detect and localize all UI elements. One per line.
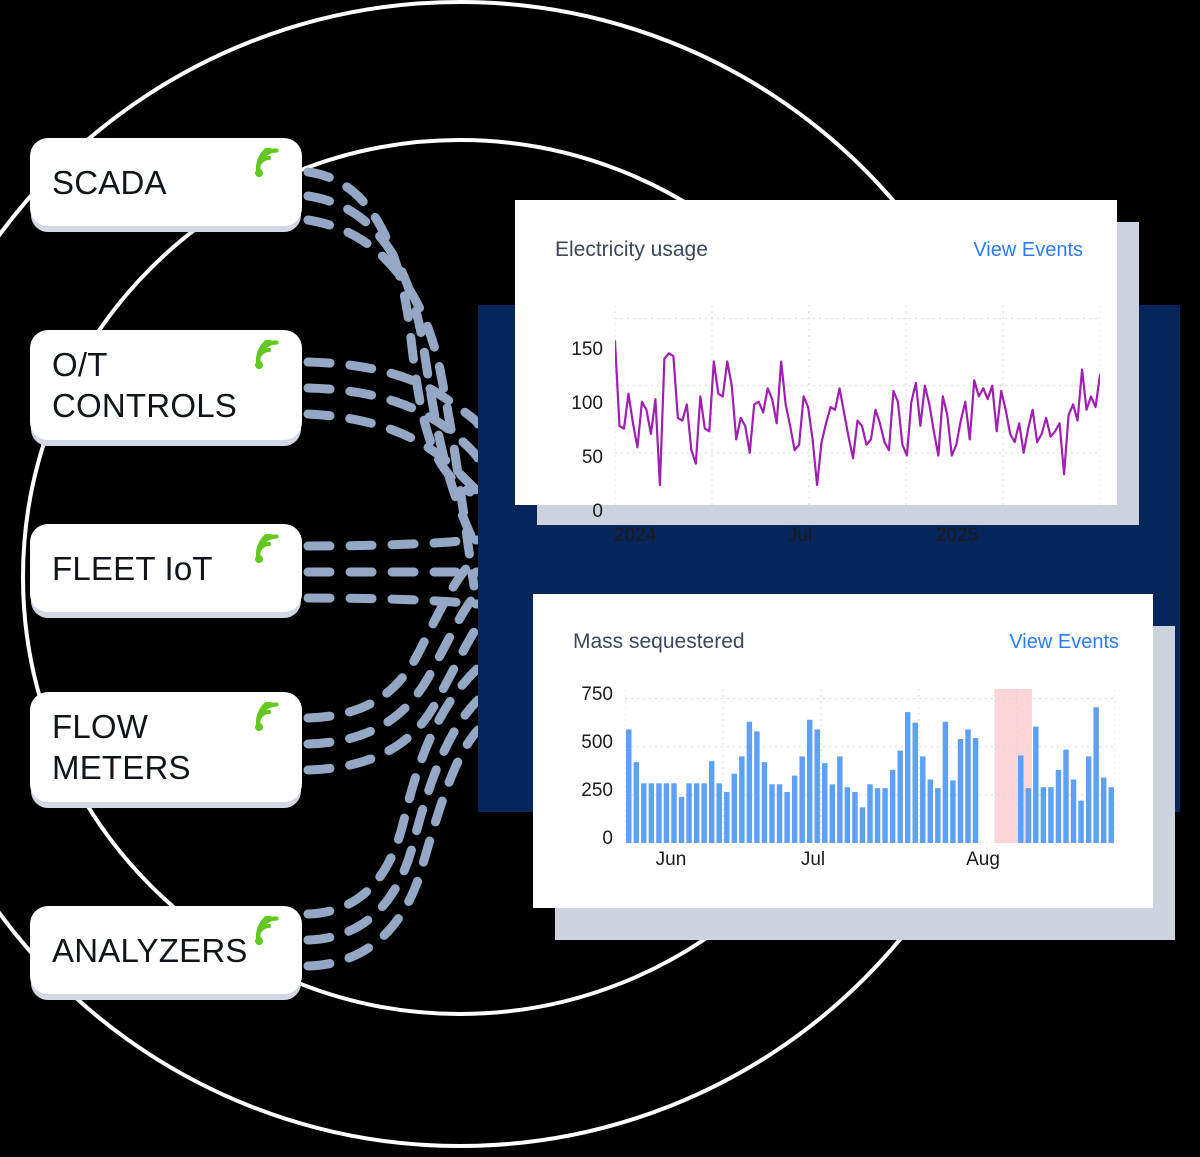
- source-pill-ot-controls[interactable]: O/T CONTROLS: [30, 330, 302, 440]
- card-header: Electricity usage View Events: [555, 238, 1083, 262]
- wifi-signal-icon: [255, 916, 289, 948]
- source-pill-flow-meters[interactable]: FLOW METERS: [30, 692, 302, 802]
- source-pill-label: FLOW METERS: [30, 706, 191, 788]
- source-pill-scada[interactable]: SCADA: [30, 138, 302, 226]
- y-tick-label: 250: [553, 780, 613, 802]
- y-tick-label: 100: [555, 393, 603, 415]
- illustration-canvas: SCADA O/T CONTROLS FLEET IoT: [0, 0, 1200, 1157]
- view-events-link[interactable]: View Events: [973, 239, 1083, 262]
- wifi-signal-icon: [255, 148, 289, 180]
- x-tick-label: 2024: [593, 525, 677, 547]
- x-tick-label: 2025: [915, 525, 999, 547]
- bar-chart-plot: [625, 689, 1115, 843]
- card-title: Electricity usage: [555, 238, 708, 262]
- source-pill-label: FLEET IoT: [30, 548, 213, 589]
- y-tick-label: 50: [555, 447, 603, 469]
- source-pill-fleet-iot[interactable]: FLEET IoT: [30, 524, 302, 612]
- y-tick-label: 500: [553, 732, 613, 754]
- source-pill-label: ANALYZERS: [30, 930, 248, 971]
- wifi-signal-icon: [255, 534, 289, 566]
- y-tick-label: 0: [555, 501, 603, 523]
- line-chart-plot: [615, 305, 1100, 520]
- x-tick-label: Jul: [771, 849, 855, 871]
- y-tick-label: 750: [553, 684, 613, 706]
- card-header: Mass sequestered View Events: [573, 630, 1119, 654]
- view-events-link[interactable]: View Events: [1009, 631, 1119, 654]
- source-pill-label: O/T CONTROLS: [30, 344, 237, 426]
- card-title: Mass sequestered: [573, 630, 745, 654]
- card-electricity-usage: Electricity usage View Events 0 50 100 1…: [515, 200, 1117, 505]
- card-mass-sequestered: Mass sequestered View Events 0 250 500 7…: [533, 594, 1153, 908]
- x-tick-label: Aug: [941, 849, 1025, 871]
- connector-lines: [308, 172, 478, 966]
- y-tick-label: 0: [553, 828, 613, 850]
- wifi-signal-icon: [255, 340, 289, 372]
- x-tick-label: Jun: [629, 849, 713, 871]
- x-tick-label: Jul: [758, 525, 842, 547]
- source-pill-analyzers[interactable]: ANALYZERS: [30, 906, 302, 994]
- source-pill-label: SCADA: [30, 162, 167, 203]
- wifi-signal-icon: [255, 702, 289, 734]
- y-tick-label: 150: [555, 339, 603, 361]
